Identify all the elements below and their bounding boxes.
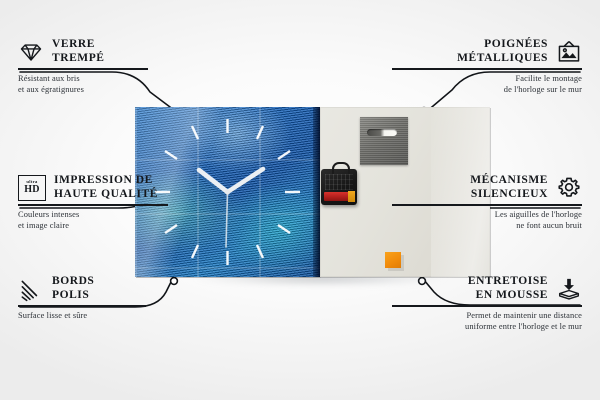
desc-line-2: de l'horloge sur le mur <box>392 84 582 95</box>
foam-spacer <box>385 252 401 268</box>
title-line-2: POLIS <box>52 289 94 303</box>
callout-title: VERRE TREMPÉ <box>52 38 105 65</box>
metal-hanger-plate <box>360 117 408 165</box>
callout-title: BORDS POLIS <box>52 275 94 302</box>
callout-poignees-metalliques: POIGNÉES MÉTALLIQUES Facilite le montage… <box>392 38 582 95</box>
badge-main-label: HD <box>24 185 39 195</box>
title-line-1: VERRE <box>52 38 105 52</box>
ultra-hd-badge-icon: ultra HD <box>18 175 46 201</box>
callout-description: Facilite le montage de l'horloge sur le … <box>392 73 582 96</box>
battery-terminal <box>348 191 355 202</box>
hanger-loop <box>332 162 350 174</box>
title-line-1: IMPRESSION DE <box>54 174 158 188</box>
callout-rule <box>18 68 148 70</box>
title-line-1: BORDS <box>52 275 94 289</box>
callout-description: Résistant aux bris et aux égratignures <box>18 73 208 96</box>
title-line-2: EN MOUSSE <box>392 289 548 303</box>
callout-head: MÉCANISME SILENCIEUX <box>392 174 582 201</box>
desc-line-1: Permet de maintenir une distance <box>392 310 582 321</box>
title-line-1: POIGNÉES <box>392 38 548 52</box>
callout-head: ultra HD IMPRESSION DE HAUTE QUALITÉ <box>18 174 208 201</box>
desc-line-2: uniforme entre l'horloge et le mur <box>392 321 582 332</box>
keyhole-slot <box>367 129 397 136</box>
callout-title: MÉCANISME SILENCIEUX <box>392 174 548 201</box>
desc-line-1: Facilite le montage <box>392 73 582 84</box>
callout-rule <box>18 305 146 307</box>
callout-rule <box>392 204 582 206</box>
callout-rule <box>18 204 168 206</box>
battery <box>324 192 354 201</box>
mechanism-texture <box>325 174 353 190</box>
callout-description: Permet de maintenir une distance uniform… <box>392 310 582 333</box>
callout-description: Surface lisse et sûre <box>18 310 208 321</box>
callout-verre-trempe: VERRE TREMPÉ Résistant aux bris et aux é… <box>18 38 208 95</box>
callout-entretoise-en-mousse: ENTRETOISE EN MOUSSE Permet de maintenir… <box>392 275 582 332</box>
callout-rule <box>392 68 582 70</box>
infographic-canvas: VERRE TREMPÉ Résistant aux bris et aux é… <box>0 0 600 400</box>
title-line-1: ENTRETOISE <box>392 275 548 289</box>
callout-head: ENTRETOISE EN MOUSSE <box>392 275 582 302</box>
desc-line-2: et aux égratignures <box>18 84 208 95</box>
callout-title: IMPRESSION DE HAUTE QUALITÉ <box>54 174 158 201</box>
callout-head: BORDS POLIS <box>18 275 208 302</box>
callout-description: Couleurs intenses et image claire <box>18 209 208 232</box>
desc-line-1: Surface lisse et sûre <box>18 310 208 321</box>
callout-bords-polis: BORDS POLIS Surface lisse et sûre <box>18 275 208 321</box>
title-line-2: TREMPÉ <box>52 52 105 66</box>
callout-mecanisme-silencieux: MÉCANISME SILENCIEUX Les aiguilles de l'… <box>392 174 582 231</box>
foam-spacer-arrow-icon <box>556 276 582 302</box>
diamond-icon <box>18 39 44 65</box>
title-line-2: HAUTE QUALITÉ <box>54 188 158 202</box>
wall-mount-frame-icon <box>556 39 582 65</box>
callout-title: ENTRETOISE EN MOUSSE <box>392 275 548 302</box>
callout-description: Les aiguilles de l'horloge ne font aucun… <box>392 209 582 232</box>
desc-line-2: ne font aucun bruit <box>392 220 582 231</box>
desc-line-1: Couleurs intenses <box>18 209 208 220</box>
clock-mechanism <box>321 169 357 205</box>
desc-line-1: Résistant aux bris <box>18 73 208 84</box>
title-line-2: SILENCIEUX <box>392 188 548 202</box>
callout-head: POIGNÉES MÉTALLIQUES <box>392 38 582 65</box>
desc-line-2: et image claire <box>18 220 208 231</box>
desc-line-1: Les aiguilles de l'horloge <box>392 209 582 220</box>
callout-rule <box>392 305 582 307</box>
title-line-1: MÉCANISME <box>392 174 548 188</box>
callout-impression-haute-qualite: ultra HD IMPRESSION DE HAUTE QUALITÉ Cou… <box>18 174 208 231</box>
polished-edges-icon <box>18 276 44 302</box>
callout-head: VERRE TREMPÉ <box>18 38 208 65</box>
gear-icon <box>556 175 582 201</box>
title-line-2: MÉTALLIQUES <box>392 52 548 66</box>
callout-title: POIGNÉES MÉTALLIQUES <box>392 38 548 65</box>
